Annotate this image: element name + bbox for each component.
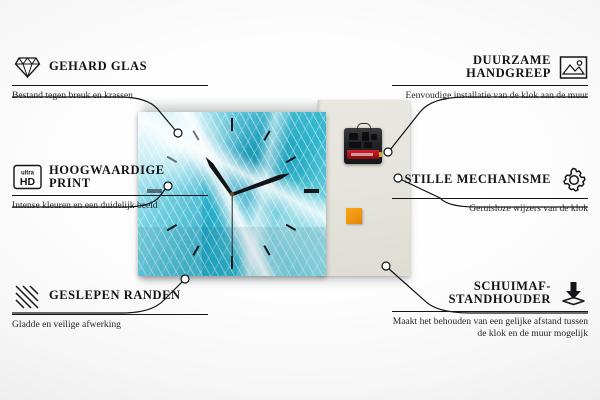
feature-description: Geruisloze wijzers van de klok xyxy=(392,203,588,214)
feature-duurzame-handgreep: DUURZAME HANDGREEP Eenvoudige installati… xyxy=(392,52,588,102)
feature-divider xyxy=(392,198,588,199)
feature-description: Gladde en veilige afwerking xyxy=(12,319,208,330)
battery xyxy=(347,150,379,159)
feature-header: GESLEPEN RANDEN xyxy=(12,281,208,311)
mechanism-detail xyxy=(349,133,358,140)
battery-label xyxy=(351,153,373,156)
feature-title: GESLEPEN RANDEN xyxy=(49,289,181,303)
clock-hand-second xyxy=(231,194,232,264)
feature-title: GEHARD GLAS xyxy=(49,60,147,74)
clock-center-pin xyxy=(230,192,234,196)
feature-divider xyxy=(392,85,588,86)
feature-divider xyxy=(12,314,208,315)
feature-header: STILLE MECHANISME xyxy=(392,165,588,195)
feature-divider xyxy=(12,195,208,196)
gear-icon xyxy=(558,165,588,195)
diamond-icon xyxy=(12,52,42,82)
feature-header: ultra HD HOOGWAARDIGE PRINT xyxy=(12,162,208,192)
feature-gehard-glas: GEHARD GLAS Bestand tegen breuk en krass… xyxy=(12,52,208,102)
mechanism-detail xyxy=(362,132,369,141)
mechanism-hanger-icon xyxy=(357,123,371,132)
feature-description: Bestand tegen breuk en krassen xyxy=(12,90,208,101)
foam-spacer xyxy=(346,208,362,224)
feature-header: GEHARD GLAS xyxy=(12,52,208,82)
mechanism-detail xyxy=(364,142,372,148)
diagonal-lines-icon xyxy=(12,281,42,311)
feature-title: DUURZAME HANDGREEP xyxy=(392,54,551,81)
infographic-canvas: GEHARD GLAS Bestand tegen breuk en krass… xyxy=(0,0,600,400)
framed-picture-icon xyxy=(558,52,588,82)
feature-title: HOOGWAARDIGE PRINT xyxy=(49,164,208,191)
mechanism-detail xyxy=(349,142,361,148)
feature-header: SCHUIMAF- STANDHOUDER xyxy=(392,278,588,308)
feature-header: DUURZAME HANDGREEP xyxy=(392,52,588,82)
clock-mechanism xyxy=(344,128,382,164)
feature-divider xyxy=(392,311,588,312)
feature-title: STILLE MECHANISME xyxy=(404,173,551,187)
feature-description: Eenvoudige installatie van de klok aan d… xyxy=(392,90,588,101)
clock-marker-12 xyxy=(231,118,233,131)
feature-hoogwaardige-print: ultra HD HOOGWAARDIGE PRINT Intense kleu… xyxy=(12,162,208,212)
feature-stille-mechanisme: STILLE MECHANISME Geruisloze wijzers van… xyxy=(392,165,588,215)
ultra-hd-icon: ultra HD xyxy=(12,162,42,192)
feature-schuimafstandhouder: SCHUIMAF- STANDHOUDER Maakt het behouden… xyxy=(392,278,588,339)
arrow-press-icon xyxy=(558,278,588,308)
feature-divider xyxy=(12,85,208,86)
mechanism-detail xyxy=(371,134,377,140)
feature-title: SCHUIMAF- STANDHOUDER xyxy=(392,280,551,307)
feature-description: Intense kleuren en een duidelijk beeld xyxy=(12,200,208,211)
feature-geslepen-randen: GESLEPEN RANDEN Gladde en veilige afwerk… xyxy=(12,281,208,331)
svg-text:HD: HD xyxy=(19,176,35,188)
feature-description: Maakt het behouden van een gelijke afsta… xyxy=(392,316,588,339)
clock-marker-3 xyxy=(304,189,319,193)
